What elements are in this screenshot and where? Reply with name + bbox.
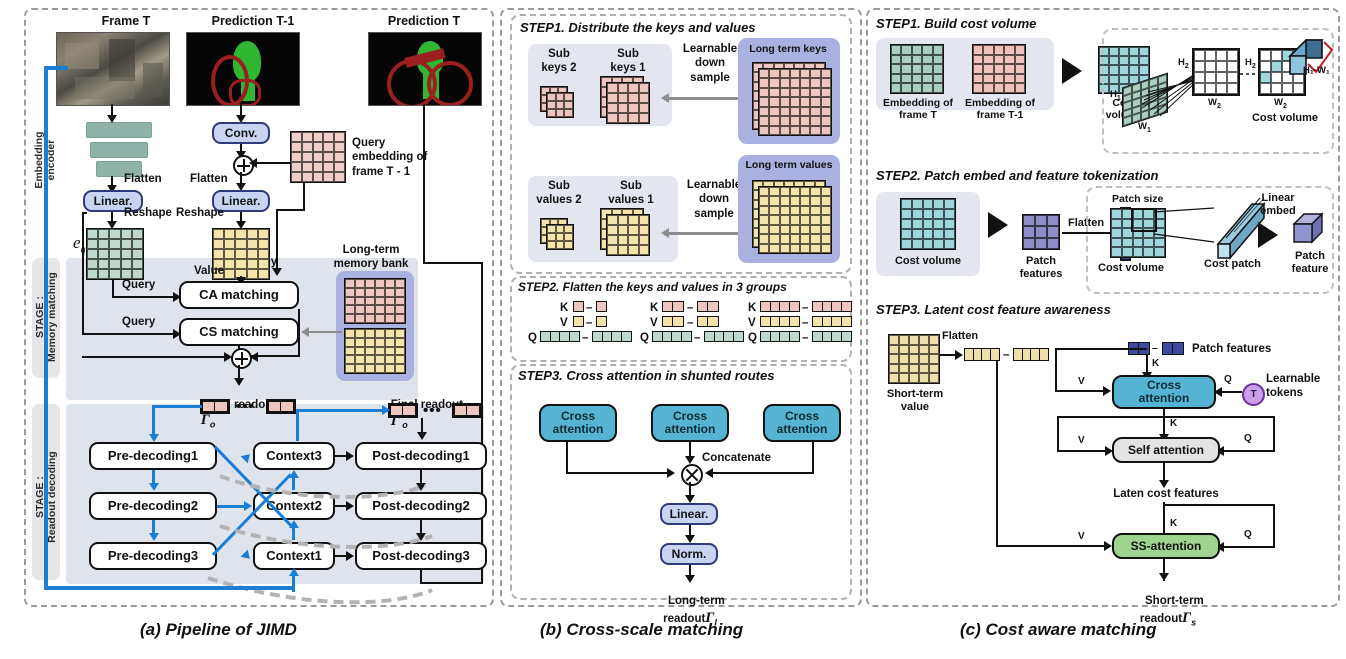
blue-line-final-h bbox=[296, 409, 388, 412]
line-ss-q-h-top bbox=[1163, 504, 1275, 506]
arrow-linear-embed bbox=[1258, 222, 1278, 248]
line-token-to-cross-q bbox=[1220, 391, 1242, 393]
cross-attention-block-c[interactable]: Cross attention bbox=[1112, 375, 1216, 409]
panel-b-g1-q-strip-b bbox=[592, 331, 632, 342]
short-term-token-a bbox=[964, 348, 1000, 361]
cross-attention-right-label: Cross attention bbox=[777, 410, 828, 435]
panel-b-g3-v-dash: – bbox=[802, 317, 808, 330]
line-self-v-h-bot bbox=[1057, 450, 1109, 452]
line-query-cs-v bbox=[82, 212, 84, 335]
learnable-token-icon: T bbox=[1242, 383, 1265, 406]
detail-depth-cube bbox=[1286, 28, 1336, 86]
memory-bank-keys-grid bbox=[344, 278, 406, 324]
initial-readout-token-a bbox=[200, 399, 230, 414]
panel-b-g3-v-strip-b bbox=[812, 316, 852, 327]
label-patch-features-step3: Patch features bbox=[1192, 343, 1271, 356]
line-ss-q-v bbox=[1273, 504, 1275, 548]
label-short-term-readout-sub: s bbox=[1191, 617, 1196, 627]
label-query-embedding: Query embedding of frame T - 1 bbox=[352, 136, 427, 179]
label-detail-h1-base: H bbox=[1110, 89, 1117, 100]
panel-b-g3-q-dash: – bbox=[802, 332, 808, 345]
panel-b-g3-k-dash: – bbox=[802, 302, 808, 315]
line-query-cs-h0 bbox=[82, 212, 87, 214]
panel-b-g1-v-dash: – bbox=[586, 317, 592, 330]
label-detail-w2-a-base: W bbox=[1208, 97, 1217, 108]
arrow-cv-to-patch bbox=[988, 212, 1008, 238]
arrow-frame-to-encoder bbox=[107, 115, 117, 123]
panel-b-g2-q-label: Q bbox=[640, 332, 649, 345]
panel-b-g1-k-strip-b bbox=[596, 301, 607, 312]
label-long-term-memory-bank: Long-term memory bank bbox=[316, 244, 426, 272]
label-short-term-value: Short-term value bbox=[872, 388, 958, 414]
line-bank-to-cs bbox=[306, 331, 342, 333]
label-detail-h2-b-sub: 2 bbox=[1252, 63, 1256, 70]
label-ss-v: V bbox=[1078, 531, 1085, 542]
panel-b-g2-q-strip-a bbox=[652, 331, 692, 342]
line-key-h1 bbox=[276, 209, 305, 211]
label-concatenate: Concatenate bbox=[702, 452, 771, 465]
line-ca-right-left bbox=[710, 472, 814, 474]
label-self-q: Q bbox=[1244, 433, 1252, 444]
caption-c: (c) Cost aware matching bbox=[960, 620, 1157, 640]
line-self-v-h-top bbox=[1057, 416, 1165, 418]
blue-line-final-v bbox=[296, 409, 299, 441]
sub-keys-2-stack-front bbox=[546, 92, 574, 118]
initial-readout-ellipsis: ••• bbox=[236, 398, 255, 415]
memory-bank-values-grid bbox=[344, 328, 406, 374]
label-detail-h2-a-sub: 2 bbox=[1185, 63, 1189, 70]
label-latent-cost-features: Laten cost features bbox=[1096, 488, 1236, 501]
add-node-readout bbox=[231, 348, 252, 369]
panel-b-g3-v-label: V bbox=[748, 317, 756, 330]
panel-b-g3-k-strip-b bbox=[812, 301, 852, 312]
skip-connections-dashed bbox=[60, 440, 490, 600]
label-detail-w2-a: W2 bbox=[1208, 98, 1221, 111]
line-v-cross-h-top bbox=[1055, 348, 1147, 350]
line-ca-left-right bbox=[566, 472, 670, 474]
label-sub-values-1: Sub values 1 bbox=[596, 180, 666, 208]
arrow-qemb-to-plus bbox=[249, 158, 257, 168]
panel-b-g2-k-label: K bbox=[650, 302, 658, 315]
panel-b-g2-k-dash: – bbox=[687, 302, 693, 315]
label-patch-size: Patch size bbox=[1112, 194, 1163, 206]
sub-values-1-stack-front bbox=[606, 214, 650, 256]
label-detail-h2-a: H2 bbox=[1178, 58, 1189, 71]
embedding-frame-t-grid bbox=[890, 44, 944, 94]
label-detail-h1: H1 bbox=[1110, 90, 1121, 103]
arrow-to-cost-volume bbox=[1062, 58, 1082, 84]
label-sub-keys-1: Sub keys 1 bbox=[598, 48, 658, 76]
panel-b-g2-v-dash: – bbox=[687, 317, 693, 330]
line-self-q-h-bot bbox=[1222, 450, 1275, 452]
arrow-ca-mid-concat bbox=[685, 456, 695, 464]
label-embedding-frame-tm1: Embedding of frame T-1 bbox=[954, 97, 1046, 121]
initial-readout-token-b bbox=[266, 399, 296, 414]
panel-b-g1-q-strip-a bbox=[540, 331, 580, 342]
line-self-v-v bbox=[1057, 416, 1059, 452]
line-query-cs-h bbox=[82, 333, 176, 335]
panel-c-step3-title: STEP3. Latent cost feature awareness bbox=[876, 302, 1111, 317]
arrow-concat-linear bbox=[685, 495, 695, 503]
long-term-values-front bbox=[758, 186, 832, 254]
label-detail-h1-sub: 1 bbox=[1117, 95, 1121, 102]
final-readout-token-b bbox=[452, 403, 482, 418]
caption-b: (b) Cross-scale matching bbox=[540, 620, 743, 640]
label-sub-values-2: Sub values 2 bbox=[526, 180, 592, 208]
caption-a: (a) Pipeline of JIMD bbox=[140, 620, 297, 640]
label-flatten-left: Flatten bbox=[124, 173, 162, 186]
arrow-downsample-values bbox=[661, 228, 669, 238]
label-learnable-tokens: Learnable tokens bbox=[1266, 373, 1320, 401]
arrow-plus-to-initial bbox=[234, 378, 244, 386]
short-term-token-b bbox=[1013, 348, 1049, 361]
embedding-frame-tm1-grid bbox=[972, 44, 1026, 94]
label-value: Value bbox=[194, 265, 224, 278]
label-short-term-readout-symbol: Γ bbox=[1182, 610, 1191, 626]
cross-attention-left[interactable]: Cross attention bbox=[539, 404, 617, 442]
label-query-top: Query bbox=[122, 279, 155, 292]
learnable-token-glyph: T bbox=[1250, 389, 1256, 400]
label-detail-w2-b: W2 bbox=[1274, 98, 1287, 111]
panel-b-g3-q-strip-a bbox=[760, 331, 800, 342]
line-downsample-keys bbox=[668, 97, 740, 100]
panel-b-g1-k-dash: – bbox=[586, 302, 592, 315]
panel-b-g2-v-label: V bbox=[650, 317, 658, 330]
prediction-t-image bbox=[368, 32, 482, 106]
patch-feature-cube bbox=[1292, 212, 1328, 248]
panel-b-g1-k-strip-a bbox=[573, 301, 584, 312]
encoder-block-1 bbox=[86, 122, 152, 138]
patch-features-grid bbox=[1022, 214, 1060, 250]
query-embedding-grid bbox=[86, 228, 144, 280]
line-downsample-values bbox=[668, 232, 740, 235]
label-long-term-values: Long term values bbox=[734, 160, 844, 172]
label-frame-t: Frame T bbox=[60, 14, 192, 28]
panel-b-g2-v-strip-b bbox=[697, 316, 719, 327]
cross-attention-right[interactable]: Cross attention bbox=[763, 404, 841, 442]
line-self-q-v bbox=[1273, 416, 1275, 452]
query-embedding-frame-tm1-grid bbox=[290, 131, 346, 183]
line-qemb-to-plus bbox=[252, 162, 290, 164]
line-self-q-h-top bbox=[1163, 416, 1275, 418]
line-ca-out-v bbox=[298, 309, 300, 357]
label-self-k: K bbox=[1170, 418, 1177, 429]
line-predt-down bbox=[423, 104, 425, 264]
label-detail-w2-b-base: W bbox=[1274, 97, 1283, 108]
line-ss-v-h bbox=[996, 545, 1108, 547]
label-eq-base: e bbox=[73, 233, 81, 252]
panel-b-g3-k-strip-a bbox=[760, 301, 800, 312]
label-reshape-right: Reshape bbox=[176, 207, 224, 220]
cs-matching-block[interactable]: CS matching bbox=[179, 318, 299, 346]
label-cost-volume-step2: Cost volume bbox=[874, 255, 982, 267]
label-detail-w2-b-sub: 2 bbox=[1283, 103, 1287, 110]
panel-c-step2-title: STEP2. Patch embed and feature tokenizat… bbox=[876, 168, 1158, 183]
line-v-cross-v bbox=[1055, 348, 1057, 392]
panel-b-g2-v-strip-a bbox=[662, 316, 684, 327]
label-prediction-tm1: Prediction T-1 bbox=[178, 14, 328, 28]
label-query-bottom: Query bbox=[122, 316, 155, 329]
blue-loop-h-bottom bbox=[44, 586, 294, 590]
arrow-self-out bbox=[1159, 480, 1169, 488]
sub-values-2-stack-front bbox=[546, 224, 574, 250]
label-initial-readout-symbol: Γ bbox=[201, 412, 210, 428]
arrow-final-to-post1 bbox=[417, 432, 427, 440]
cross-attention-middle-label: Cross attention bbox=[665, 410, 716, 435]
panel-b-g1-q-dash: – bbox=[582, 332, 588, 345]
cross-attention-block-c-label: Cross attention bbox=[1139, 379, 1190, 404]
arrow-token-to-cross-q bbox=[1214, 387, 1222, 397]
panel-b-g1-k-label: K bbox=[560, 302, 568, 315]
label-detail-h2-a-base: H bbox=[1178, 57, 1185, 68]
label-long-term-keys: Long term keys bbox=[736, 44, 840, 56]
label-detail-w2-a-sub: 2 bbox=[1217, 103, 1221, 110]
line-ca-left-down bbox=[566, 442, 568, 474]
ca-matching-block[interactable]: CA matching bbox=[179, 281, 299, 309]
self-attention-block[interactable]: Self attention bbox=[1112, 437, 1220, 463]
concatenate-node bbox=[681, 464, 703, 486]
patch-feature-token-dash: – bbox=[1152, 343, 1158, 354]
label-detail-h2-b: H2 bbox=[1245, 58, 1256, 71]
label-patch-features-step2: Patch features bbox=[1006, 255, 1076, 280]
short-term-value-grid bbox=[888, 334, 940, 384]
panel-b-g2-k-strip-b bbox=[697, 301, 719, 312]
final-readout-token-a bbox=[388, 403, 418, 418]
blue-loop-v-left bbox=[44, 66, 48, 590]
label-prediction-t: Prediction T bbox=[364, 14, 484, 28]
sub-keys-1-stack-front bbox=[606, 82, 650, 124]
encoder-block-2 bbox=[90, 142, 148, 158]
label-ss-k: K bbox=[1170, 518, 1177, 529]
panel-b-g3-v-strip-a bbox=[760, 316, 800, 327]
line-predt-h bbox=[423, 262, 483, 264]
arrow-ss-v bbox=[1104, 541, 1112, 551]
label-flatten-right: Flatten bbox=[190, 173, 228, 186]
label-final-readout-sub: o bbox=[402, 420, 408, 430]
panel-b-g1-v-strip-b bbox=[596, 316, 607, 327]
blue-line-initial-h bbox=[152, 405, 202, 408]
line-ca-right-down bbox=[812, 442, 814, 474]
patch-feature-token-b bbox=[1162, 342, 1184, 355]
panel-b-g1-v-strip-a bbox=[573, 316, 584, 327]
short-term-token-dash: – bbox=[1003, 349, 1009, 362]
label-sub-keys-2: Sub keys 2 bbox=[530, 48, 588, 76]
arrow-linear-norm bbox=[685, 535, 695, 543]
line-key-v1 bbox=[303, 183, 305, 211]
label-patch-feature: Patch feature bbox=[1282, 250, 1338, 275]
panel-b-g3-q-label: Q bbox=[748, 332, 757, 345]
label-initial-readout-sub: o bbox=[210, 419, 216, 429]
label-initial-readout: Initial readout Γo bbox=[188, 386, 276, 442]
blue-arrow-final bbox=[382, 405, 390, 415]
panel-b-g2-q-dash: – bbox=[694, 332, 700, 345]
cost-volume-grid-step2 bbox=[900, 198, 956, 250]
label-detail-h1w1: H₁·W₁ bbox=[1303, 66, 1330, 77]
line-v-cross-h-bot bbox=[1055, 390, 1107, 392]
arrow-key-down bbox=[272, 268, 282, 276]
arrow-downsample-keys bbox=[661, 93, 669, 103]
frame-t-image bbox=[56, 32, 170, 106]
panel-b-step1-title: STEP1. Distribute the keys and values bbox=[520, 20, 756, 35]
panel-b-step3-title: STEP3. Cross attention in shunted routes bbox=[518, 368, 774, 383]
panel-b-g1-v-label: V bbox=[560, 317, 568, 330]
conv-block[interactable]: Conv. bbox=[212, 122, 270, 144]
arrow-bank-to-cs bbox=[301, 327, 309, 337]
line-ss-q-h-bot bbox=[1222, 546, 1275, 548]
label-detail-cost-volume: Cost volume bbox=[1240, 112, 1330, 124]
label-reshape-left: Reshape bbox=[124, 207, 172, 220]
label-flatten-step3: Flatten bbox=[942, 330, 978, 342]
label-cross-q: Q bbox=[1224, 374, 1232, 385]
arrow-ca-right-concat bbox=[705, 468, 713, 478]
label-detail-h2-b-base: H bbox=[1245, 57, 1252, 68]
panel-b-g2-k-strip-a bbox=[662, 301, 684, 312]
panel-b-g3-k-label: K bbox=[748, 302, 756, 315]
panel-b-linear-block[interactable]: Linear. bbox=[660, 503, 718, 525]
arrow-v-cross bbox=[1103, 386, 1111, 396]
cross-attention-middle[interactable]: Cross attention bbox=[651, 404, 729, 442]
arrow-ca-left-concat bbox=[667, 468, 675, 478]
blue-loop-h-top bbox=[44, 66, 68, 70]
final-readout-ellipsis: ••• bbox=[423, 402, 442, 419]
cross-attention-left-label: Cross attention bbox=[553, 410, 604, 435]
long-term-keys-front bbox=[758, 68, 832, 136]
line-ss-v-v bbox=[996, 361, 998, 547]
label-cost-patch: Cost patch bbox=[1204, 258, 1261, 270]
label-cross-k: K bbox=[1152, 358, 1159, 369]
arrow-left-to-plus bbox=[224, 352, 232, 362]
label-embedding-frame-t: Embedding of frame T bbox=[872, 97, 964, 121]
panel-b-step2-title: STEP2. Flatten the keys and values in 3 … bbox=[518, 280, 787, 294]
panel-c-step1-title: STEP1. Build cost volume bbox=[876, 16, 1036, 31]
ss-attention-block[interactable]: SS-attention bbox=[1112, 533, 1220, 559]
label-ss-q: Q bbox=[1244, 529, 1252, 540]
line-query-ca-h bbox=[112, 296, 176, 298]
panel-b-g1-q-label: Q bbox=[528, 332, 537, 345]
label-cross-v: V bbox=[1078, 376, 1085, 387]
detail-target-grid bbox=[1192, 48, 1240, 96]
panel-b-g3-q-strip-b bbox=[812, 331, 852, 342]
figure-root: Frame T Prediction T-1 Prediction T Embe… bbox=[0, 0, 1346, 659]
arrow-flatten-step3 bbox=[955, 350, 963, 360]
arrow-right-to-plus bbox=[250, 352, 258, 362]
label-self-v: V bbox=[1078, 435, 1085, 446]
line-left-to-plus bbox=[82, 356, 230, 358]
panel-b-norm-block[interactable]: Norm. bbox=[660, 543, 718, 565]
panel-b-g2-q-strip-b bbox=[704, 331, 744, 342]
prediction-tm1-image bbox=[186, 32, 300, 106]
